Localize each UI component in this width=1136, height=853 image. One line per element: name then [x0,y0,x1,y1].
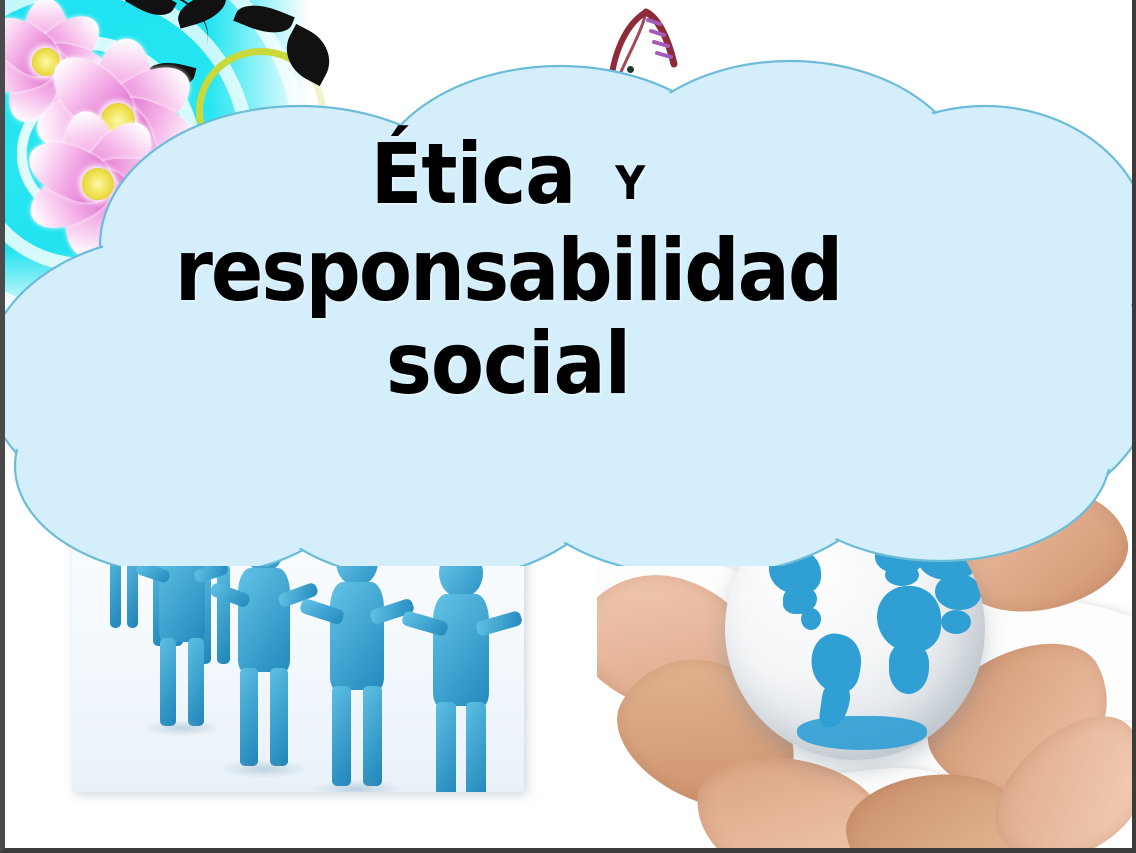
hands-holding-globe-photo [597,403,1136,853]
earth-globe [725,498,985,760]
presentation-slide: “ [0,0,1136,853]
red-ladder-doodle-icon [596,2,706,94]
doodle-dot [627,66,634,73]
person-figure [402,548,520,792]
person-figure [300,538,414,790]
page-title: ÉticaY responsabilidad social [0,132,1016,409]
title-line-2: responsabilidad [0,228,1016,316]
title-word-etica: Ética [371,125,575,223]
doodle-dot [601,86,608,93]
title-line-3: social [0,321,1016,409]
title-line-1: ÉticaY [0,132,1016,218]
title-conjunction: Y [615,156,645,210]
people-holding-hands-photo [72,452,524,792]
